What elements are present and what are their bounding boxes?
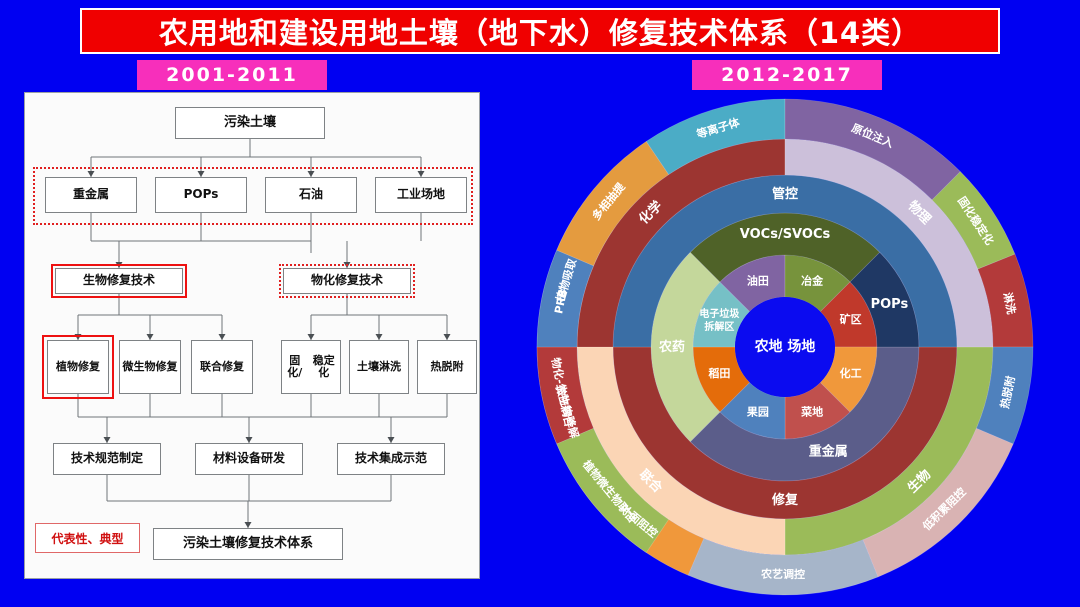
page-title: 农用地和建设用地土壤（地下水）修复技术体系（14类） (159, 10, 921, 52)
sunburst-label-ring1-sites-1: 果园 (746, 406, 769, 419)
flow-node-bio-method-0: 植物修复 (47, 340, 109, 394)
sunburst-label-ring1-sites-2: 稻田 (708, 366, 730, 380)
flow-node-final: 污染土壤修复技术体系 (153, 528, 343, 560)
period-label-right: 2012-2017 (721, 64, 853, 86)
flow-node-contaminant-2: 石油 (265, 177, 357, 213)
sunburst-label-ring2-pollutants-3: POPs (871, 296, 909, 311)
slide-title-bar: 农用地和建设用地土壤（地下水）修复技术体系（14类） (80, 8, 1000, 54)
flow-node-contaminant-0: 重金属 (45, 177, 137, 213)
flow-node-output-2: 技术集成示范 (337, 443, 445, 475)
flow-node-bio-method-1-line1: 修复 (156, 361, 178, 373)
flow-node-phys-method-0-line0: 固化/ (282, 355, 308, 380)
flow-node-bio-method-2: 联合修复 (191, 340, 253, 394)
flow-node-phys-tech: 物化修复技术 (283, 268, 411, 294)
period-label-left: 2001-2011 (166, 64, 298, 86)
sunburst-label-ring3-approach-1: 管控 (772, 186, 798, 202)
flow-node-phys-method-0-line1: 稳定化 (308, 355, 340, 380)
sunburst-label-ring2-pollutants-2: VOCs/SVOCs (740, 227, 831, 242)
flow-node-phys-method-1-line0: 土壤 (357, 361, 379, 373)
slide-root: 农用地和建设用地土壤（地下水）修复技术体系（14类） 2001-2011 201… (0, 0, 1080, 607)
flow-node-output-0: 技术规范制定 (53, 443, 161, 475)
flowchart-panel: 污染土壤 重金属 POPs 石油 工业场地 生物修复技术 物化修复技术 植物修复… (24, 92, 480, 579)
flow-node-contaminant-3: 工业场地 (375, 177, 467, 213)
period-banner-left: 2001-2011 (137, 60, 327, 90)
flowchart-connectors (25, 93, 481, 580)
sunburst-label-ring5-technologies-1: 农艺调控 (760, 567, 805, 581)
sunburst-label-ring1-sites-0: 菜地 (800, 405, 823, 419)
flow-node-bio-method-1-line0: 微生物 (123, 361, 156, 373)
sunburst-label-ring1-sites-6: 矿区 (840, 312, 862, 326)
flow-node-output-1: 材料设备研发 (195, 443, 303, 475)
period-banner-right: 2012-2017 (692, 60, 882, 90)
flow-node-bio-method-0-line1: 修复 (78, 361, 100, 373)
flow-node-phys-method-1-line1: 淋洗 (379, 361, 401, 373)
sunburst-chart: 菜地果园稻田电子垃圾拆解区油田冶金矿区化工重金属农药VOCs/SVOCsPOPs… (490, 92, 1080, 607)
flow-node-phys-method-0: 固化/稳定化 (281, 340, 341, 394)
flow-node-phys-method-2: 热脱附 (417, 340, 477, 394)
flow-node-bio-method-1: 微生物修复 (119, 340, 181, 394)
flow-node-contaminant-1: POPs (155, 177, 247, 213)
sunburst-label-ring2-pollutants-0: 重金属 (809, 443, 848, 459)
flow-node-bio-method-0-line0: 植物 (56, 361, 78, 373)
sunburst-panel: 菜地果园稻田电子垃圾拆解区油田冶金矿区化工重金属农药VOCs/SVOCsPOPs… (490, 92, 1080, 607)
flow-node-phys-method-1: 土壤淋洗 (349, 340, 409, 394)
flow-node-bio-tech: 生物修复技术 (55, 268, 183, 294)
sunburst-label-ring1-sites-4: 油田 (747, 273, 769, 287)
sunburst-center-label: 农地 场地 (754, 338, 816, 355)
sunburst-label-ring1-sites-5: 冶金 (801, 273, 824, 287)
sunburst-label-ring1-sites-3: 电子垃圾拆解区 (699, 307, 740, 333)
flow-node-bio-method-2-line0: 联合 (200, 361, 222, 373)
sunburst-label-ring3-approach-0: 修复 (771, 492, 799, 508)
flow-node-bio-method-2-line1: 修复 (222, 361, 244, 373)
legend-representative: 代表性、典型 (35, 523, 140, 553)
flow-node-root: 污染土壤 (175, 107, 325, 139)
sunburst-label-ring1-sites-7: 化工 (840, 366, 862, 380)
sunburst-label-ring2-pollutants-1: 农药 (658, 339, 685, 355)
